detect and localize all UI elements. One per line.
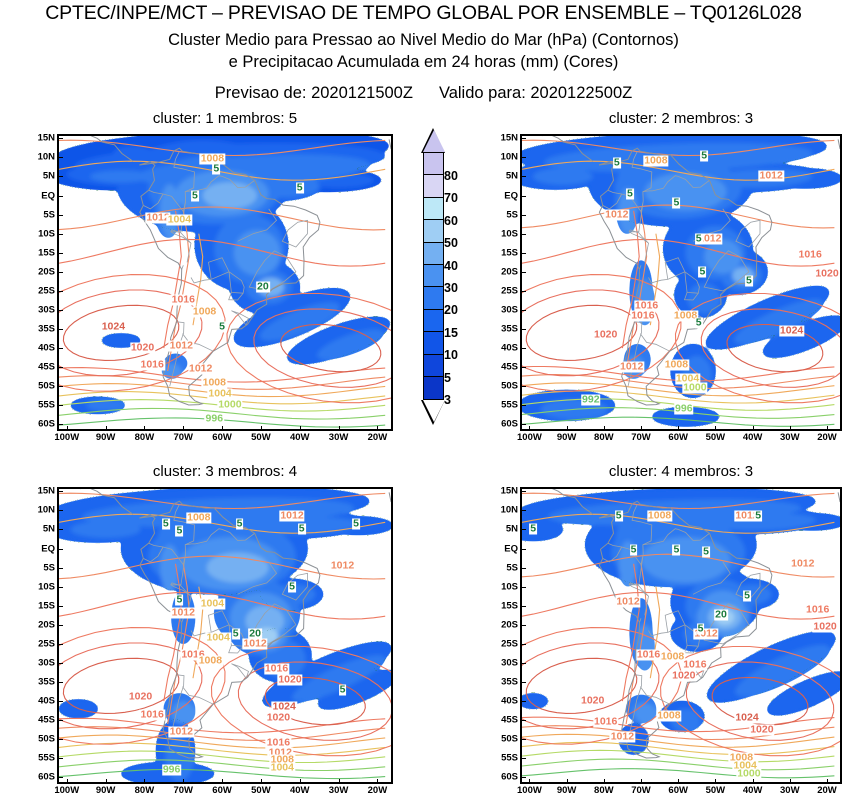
map-canvas: 1008101210121012101610201016101610081020… [522,136,840,429]
colorbar-swatch-50 [424,220,443,242]
y-axis-tick [521,272,526,273]
y-axis-tick [58,157,63,158]
colorbar-swatches [423,152,444,400]
precipitation-contour-label: 5 [630,545,638,556]
pressure-contour-label: 1012 [242,638,267,649]
colorbar-tick-label: 40 [444,259,458,273]
y-axis-tick-label: 55S [488,753,518,764]
x-axis-tick [790,426,791,431]
y-axis-tick-label: 10N [25,505,55,516]
x-axis-tick-label: 40W [290,432,310,443]
y-axis-tick [58,253,63,254]
x-axis-tick-label: 50W [706,785,726,796]
pressure-contour-label: 1024 [734,713,759,724]
precipitation-contour-label: 5 [695,234,703,245]
y-axis-tick-label: 20S [25,266,55,277]
y-axis-tick [521,720,526,721]
pressure-contour-label: 1008 [198,656,223,667]
precipitation-contour-label: 5 [352,518,360,529]
y-axis-tick-label: 5N [488,171,518,182]
pressure-contour-label: 1024 [272,701,297,712]
y-axis-tick-label: 15N [25,486,55,497]
x-axis-tick [222,779,223,784]
pressure-contour-label: 1012 [790,558,815,569]
y-axis-tick-label: 5N [25,171,55,182]
y-axis-tick-label: 15S [488,247,518,258]
pressure-contour-label: 1020 [749,724,774,735]
x-axis-tick [300,426,301,431]
colorbar-swatch-80 [424,153,443,175]
pressure-contour-label: 1024 [779,325,804,336]
x-axis-tick-label: 80W [135,785,155,796]
x-axis-tick [67,779,68,784]
y-axis-tick-label: EQ [25,190,55,201]
y-axis-tick-label: 25S [488,638,518,649]
x-axis-tick-label: 100W [54,432,79,443]
y-axis-tick [58,701,63,702]
x-axis-tick [790,779,791,784]
x-axis-tick-label: 20W [817,785,837,796]
x-axis-tick [377,426,378,431]
x-axis-tick-label: 100W [517,785,542,796]
x-axis-tick-label: 60W [668,432,688,443]
forecast-valid-label: Valido para: 2020122500Z [439,84,632,103]
precipitation-contour-label: 5 [162,518,170,529]
x-axis-tick-label: 80W [594,785,614,796]
pressure-contour-label: 1016 [140,709,165,720]
pressure-contour-label: 1008 [656,711,681,722]
colorbar-tick-label: 10 [444,348,458,362]
x-axis-tick [715,779,716,784]
precipitation-contour-label: 5 [298,524,306,535]
colorbar-tick-label: 15 [444,326,458,340]
colorbar-bottom-arrow [423,400,445,422]
pressure-contour-label: 1008 [643,156,668,167]
x-axis-tick [261,779,262,784]
y-axis-tick [521,777,526,778]
y-axis-tick [58,587,63,588]
colorbar-tick-label: 20 [444,303,458,317]
coastline-overlay [522,489,840,782]
y-axis-tick-label: 20S [488,266,518,277]
y-axis-tick [58,510,63,511]
pressure-contour-label: 1020 [593,329,618,340]
y-axis-tick-label: 5S [488,562,518,573]
y-axis-tick-label: 10S [488,228,518,239]
pressure-contour-label: 1012 [759,171,784,182]
precipitation-contour-label: 5 [702,547,710,558]
y-axis-tick-label: 60S [25,419,55,430]
pressure-contour-label: 1012 [604,209,629,220]
precipitation-contour-label: 5 [529,524,537,535]
x-axis-tick-label: 30W [329,785,349,796]
colorbar-top-arrow [423,130,445,152]
precipitation-contour-label: 5 [700,150,708,161]
y-axis-tick-label: 10N [488,152,518,163]
y-axis-tick [58,663,63,664]
pressure-contour-label: 996 [205,413,225,424]
x-axis-tick [827,426,828,431]
pressure-contour-label: 1000 [217,400,242,411]
y-axis-tick-label: 15S [25,600,55,611]
x-axis-tick-label: 90W [96,432,116,443]
y-axis-tick [521,138,526,139]
y-axis-tick [521,491,526,492]
pressure-contour-label: 1020 [814,268,839,279]
precipitation-contour-label: 5 [697,623,705,634]
x-axis-tick [106,779,107,784]
y-axis-tick [521,758,526,759]
y-axis-tick-label: 50S [25,381,55,392]
coastline-overlay [522,136,840,429]
y-axis-tick-label: EQ [25,543,55,554]
y-axis-tick [58,529,63,530]
pressure-contour-label: 1016 [805,604,830,615]
precipitation-contour-label: 5 [232,629,240,640]
x-axis-tick-label: 80W [594,432,614,443]
precipitation-contour-label: 5 [743,591,751,602]
map-panel-cluster-1[interactable]: 1008101210041016100810241020101210161012… [57,134,393,431]
x-axis-tick-label: 100W [517,432,542,443]
x-axis-tick [529,779,530,784]
y-axis-tick [521,405,526,406]
y-axis-tick-label: 35S [25,324,55,335]
y-axis-tick [58,644,63,645]
x-axis-tick [106,426,107,431]
forecast-init-label: Previsao de: 2020121500Z [215,84,413,103]
x-axis-tick-label: 40W [743,785,763,796]
x-axis-tick [604,779,605,784]
precipitation-contour-label: 5 [191,190,199,201]
y-axis-tick [521,196,526,197]
pressure-contour-label: 1016 [636,650,661,661]
precipitation-contour-label: 5 [695,318,703,329]
y-axis-tick [521,510,526,511]
x-axis-tick [300,779,301,784]
x-axis-tick [567,779,568,784]
precipitation-contour-label: 5 [175,526,183,537]
y-axis-tick [521,329,526,330]
x-axis-tick-label: 70W [631,785,651,796]
pressure-contour-label: 1012 [279,511,304,522]
y-axis-tick [58,739,63,740]
subtitle-line-1: Cluster Medio para Pressao ao Nivel Medi… [0,31,847,50]
y-axis-tick [521,424,526,425]
pressure-contour-label: 1008 [186,512,211,523]
y-axis-tick-label: 25S [488,285,518,296]
x-axis-tick-label: 70W [173,785,193,796]
x-axis-tick-label: 30W [329,432,349,443]
y-axis-tick-label: 10S [25,228,55,239]
y-axis-tick [58,138,63,139]
y-axis-tick-label: 20S [488,619,518,630]
colorbar-tick-label: 3 [444,393,451,407]
precipitation-contour-label: 5 [626,188,634,199]
y-axis-tick [58,329,63,330]
y-axis-tick [58,606,63,607]
x-axis-tick [339,426,340,431]
x-axis-tick-label: 20W [368,432,388,443]
y-axis-tick-label: 5S [25,562,55,573]
y-axis-tick-label: 20S [25,619,55,630]
map-canvas: 1008101210041016100810241020101210161012… [59,136,391,429]
x-axis-tick [144,779,145,784]
y-axis-tick [58,682,63,683]
precipitation-contour-label: 20 [256,282,270,293]
x-axis-tick [641,426,642,431]
colorbar-tick-label: 30 [444,281,458,295]
pressure-contour-label: 1012 [330,560,355,571]
precipitation-contour-label: 5 [615,511,623,522]
y-axis-tick-label: 35S [488,677,518,688]
precipitation-contour-label: 5 [296,182,304,193]
x-axis-tick-label: 70W [631,432,651,443]
x-axis-tick [753,426,754,431]
y-axis-tick-label: 55S [25,753,55,764]
pressure-contour-label: 1020 [130,343,155,354]
x-axis-tick [222,426,223,431]
y-axis-tick [58,568,63,569]
colorbar-swatch-40 [424,243,443,265]
y-axis-tick-label: 15S [488,600,518,611]
y-axis-tick [58,310,63,311]
y-axis-tick [521,529,526,530]
y-axis-tick [58,424,63,425]
y-axis-tick-label: 40S [25,696,55,707]
y-axis-tick-label: 50S [488,381,518,392]
y-axis-tick-label: EQ [488,190,518,201]
y-axis-tick-label: 10S [488,581,518,592]
pressure-contour-label: 1008 [202,377,227,388]
precipitation-contour-label: 5 [236,518,244,529]
panel-title-cluster-3: cluster: 3 membros: 4 [26,463,424,480]
precipitation-contour-label: 5 [339,684,347,695]
pressure-contour-label: 1004 [206,633,231,644]
y-axis-tick-label: 5S [25,209,55,220]
y-axis-tick [521,310,526,311]
y-axis-tick-label: EQ [488,543,518,554]
map-panel-cluster-3[interactable]: 1008101210121004101210041012101610081016… [57,487,393,784]
pressure-contour-label: 1016 [593,717,618,728]
colorbar-swatch-10 [424,332,443,354]
y-axis-tick [521,348,526,349]
y-axis-tick [521,606,526,607]
x-axis-tick [678,779,679,784]
map-canvas: 1008101210121012101610201012101610081016… [522,489,840,782]
x-axis-tick-label: 80W [135,432,155,443]
pressure-contour-label: 1020 [580,696,605,707]
y-axis-tick-label: 5N [25,524,55,535]
pressure-contour-label: 1016 [798,249,823,260]
x-axis-tick [377,779,378,784]
y-axis-tick [58,234,63,235]
y-axis-tick [58,215,63,216]
precipitation-contour-label: 5 [613,158,621,169]
y-axis-tick-label: 45S [25,715,55,726]
pressure-contour-label: 1008 [192,306,217,317]
pressure-contour-label: 1004 [270,762,295,773]
precipitation-contour-label: 5 [672,545,680,556]
x-axis-tick-label: 40W [290,785,310,796]
pressure-contour-label: 1020 [671,671,696,682]
pressure-contour-label: 1012 [169,341,194,352]
map-canvas: 1008101210121004101210041012101610081016… [59,489,391,782]
x-axis-tick-label: 60W [212,432,232,443]
x-axis-tick [339,779,340,784]
y-axis-tick-label: 50S [25,734,55,745]
y-axis-tick [521,253,526,254]
y-axis-tick [521,644,526,645]
y-axis-tick-label: 10N [488,505,518,516]
pressure-contour-label: 1000 [736,768,761,779]
map-panel-cluster-4[interactable]: 1008101210121012101610201012101610081016… [520,487,842,784]
y-axis-tick-label: 40S [25,343,55,354]
x-axis-tick [604,426,605,431]
precipitation-contour-label: 5 [754,511,762,522]
y-axis-tick [521,157,526,158]
precipitation-contour-label: 5 [218,322,226,333]
y-axis-tick [58,176,63,177]
y-axis-tick [58,720,63,721]
y-axis-tick [521,386,526,387]
pressure-contour-label: 1000 [682,383,707,394]
pressure-contour-label: 1016 [630,310,655,321]
x-axis-tick-label: 70W [173,432,193,443]
pressure-contour-label: 1024 [101,322,126,333]
x-axis-tick [529,426,530,431]
y-axis-tick-label: 55S [488,400,518,411]
precipitation-contour-label: 20 [248,629,262,640]
y-axis-tick [58,549,63,550]
colorbar-swatch-70 [424,175,443,197]
colorbar-tick-label: 60 [444,214,458,228]
y-axis-tick-label: 5S [488,209,518,220]
x-axis-tick [678,426,679,431]
y-axis-tick-label: 10S [25,581,55,592]
precipitation-contour-label: 5 [288,581,296,592]
x-axis-tick [261,426,262,431]
y-axis-tick [58,367,63,368]
colorbar-tick-label: 70 [444,191,458,205]
x-axis-tick [715,426,716,431]
pressure-contour-label: 1008 [647,511,672,522]
y-axis-tick [521,682,526,683]
y-axis-tick-label: 15N [488,133,518,144]
pressure-contour-label: 1012 [619,362,644,373]
y-axis-tick-label: 60S [488,772,518,783]
y-axis-tick [521,291,526,292]
x-axis-tick [183,779,184,784]
y-axis-tick-label: 45S [25,362,55,373]
colorbar-swatch-3 [424,377,443,399]
y-axis-tick-label: 35S [488,324,518,335]
colorbar-swatch-20 [424,287,443,309]
y-axis-tick [58,291,63,292]
precipitation-contour-label: 5 [698,266,706,277]
y-axis-tick-label: 15S [25,247,55,258]
y-axis-tick [521,701,526,702]
y-axis-tick-label: 50S [488,734,518,745]
x-axis-tick-label: 50W [706,432,726,443]
colorbar-swatch-30 [424,265,443,287]
y-axis-tick-label: 60S [25,772,55,783]
y-axis-tick-label: 30S [25,657,55,668]
page-title: CPTEC/INPE/MCT – PREVISAO DE TEMPO GLOBA… [0,2,847,25]
y-axis-tick [521,176,526,177]
y-axis-tick [58,386,63,387]
map-panel-cluster-2[interactable]: 1008101210121012101610201016101610081020… [520,134,842,431]
x-axis-tick-label: 20W [368,785,388,796]
x-axis-tick [827,779,828,784]
panel-title-cluster-1: cluster: 1 membros: 5 [26,110,424,127]
y-axis-tick [521,568,526,569]
pressure-contour-label: 1016 [682,659,707,670]
y-axis-tick [521,234,526,235]
x-axis-tick-label: 90W [557,432,577,443]
y-axis-tick [58,348,63,349]
y-axis-tick [521,663,526,664]
y-axis-tick [58,758,63,759]
pressure-contour-label: 996 [162,764,182,775]
y-axis-tick [58,405,63,406]
x-axis-tick-label: 100W [54,785,79,796]
y-axis-tick-label: 45S [488,715,518,726]
y-axis-tick [521,549,526,550]
y-axis-tick-label: 25S [25,285,55,296]
pressure-contour-label: 996 [674,404,694,415]
pressure-contour-label: 1016 [264,663,289,674]
pressure-contour-label: 1020 [266,713,291,724]
colorbar-tick-label: 50 [444,236,458,250]
y-axis-tick [58,491,63,492]
y-axis-tick [521,215,526,216]
x-axis-tick-label: 50W [251,785,271,796]
x-axis-tick [183,426,184,431]
y-axis-tick [58,625,63,626]
y-axis-tick [58,196,63,197]
y-axis-tick-label: 30S [488,657,518,668]
pressure-contour-label: 1012 [610,732,635,743]
y-axis-tick-label: 45S [488,362,518,373]
precipitation-contour-label: 5 [212,163,220,174]
y-axis-tick [521,587,526,588]
y-axis-tick-label: 30S [488,304,518,315]
precipitation-contour-label: 5 [175,594,183,605]
y-axis-tick-label: 15N [488,486,518,497]
pressure-contour-label: 1020 [812,621,837,632]
y-axis-tick-label: 25S [25,638,55,649]
y-axis-tick [521,739,526,740]
x-axis-tick-label: 60W [668,785,688,796]
y-axis-tick [521,625,526,626]
precipitation-contour-label: 20 [714,610,728,621]
pressure-contour-label: 1016 [171,295,196,306]
x-axis-tick-label: 30W [780,432,800,443]
pressure-contour-label: 992 [581,394,601,405]
forecast-validity-line: Previsao de: 2020121500ZValido para: 202… [0,84,847,103]
x-axis-tick-label: 60W [212,785,232,796]
pressure-contour-label: 1012 [188,364,213,375]
x-axis-tick-label: 40W [743,432,763,443]
pressure-contour-label: 1004 [207,388,232,399]
y-axis-tick-label: 60S [488,419,518,430]
colorbar-tick-label: 80 [444,169,458,183]
pressure-contour-label: 1008 [664,360,689,371]
x-axis-tick-label: 90W [557,785,577,796]
x-axis-tick-label: 30W [780,785,800,796]
x-axis-tick [144,426,145,431]
pressure-contour-label: 1012 [615,596,640,607]
